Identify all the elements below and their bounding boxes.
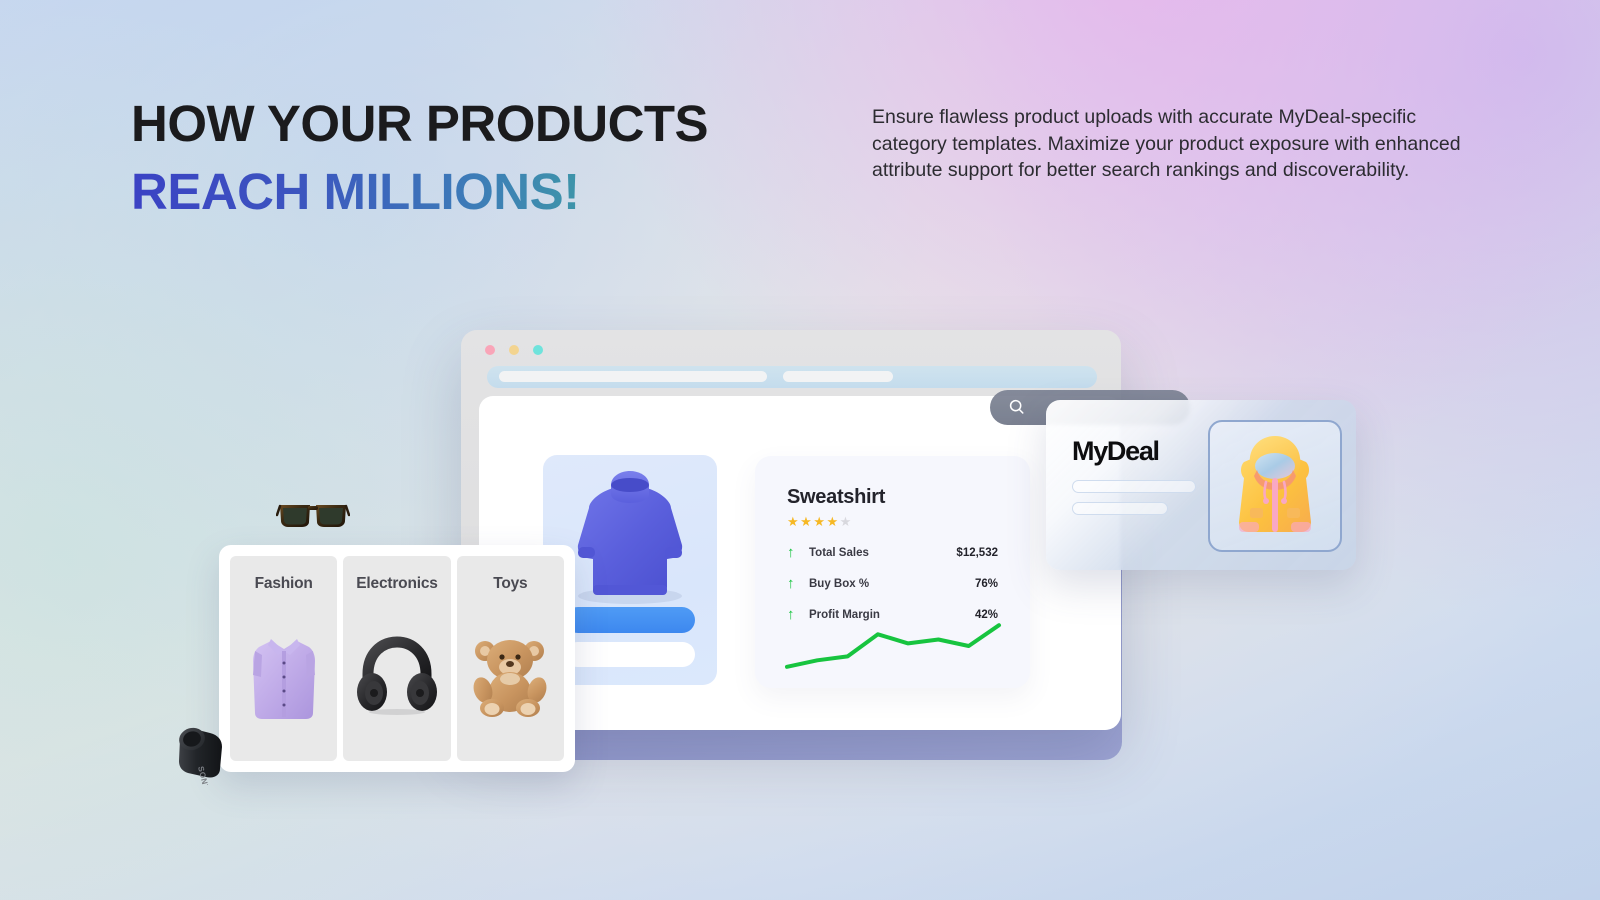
category-card-row: Fashion xyxy=(219,545,575,772)
browser-chrome xyxy=(461,330,1121,396)
star-rating: ★★★★★ xyxy=(787,514,998,530)
primary-action-bar[interactable] xyxy=(565,607,695,633)
placeholder-line xyxy=(1072,502,1168,515)
stat-row: ↑ Buy Box % 76% xyxy=(787,575,998,592)
stat-value: 76% xyxy=(975,578,998,590)
placeholder-line xyxy=(1072,480,1196,493)
shirt-icon xyxy=(230,593,337,761)
sunglasses-icon xyxy=(276,495,350,538)
star-icon: ★ xyxy=(800,514,813,529)
category-card-toys[interactable]: Toys xyxy=(457,556,564,761)
product-name: Sweatshirt xyxy=(787,486,998,509)
category-label: Fashion xyxy=(255,575,313,593)
headphones-icon xyxy=(343,593,450,761)
category-card-electronics[interactable]: Electronics xyxy=(343,556,450,761)
mydeal-brand-card: MyDeal xyxy=(1046,400,1356,570)
address-bar-url-pill xyxy=(499,371,767,382)
category-label: Toys xyxy=(493,575,527,593)
sales-trend-sparkline xyxy=(783,616,1003,676)
arrow-up-icon: ↑ xyxy=(787,575,809,592)
speaker-icon: SONY xyxy=(172,723,228,790)
product-stats-card: Sweatshirt ★★★★★ ↑ Total Sales $12,532 ↑… xyxy=(755,456,1030,688)
window-controls xyxy=(485,345,543,355)
stat-value: $12,532 xyxy=(956,547,998,559)
raincoat-product-frame[interactable] xyxy=(1208,420,1342,552)
category-label: Electronics xyxy=(356,575,437,593)
stat-row: ↑ Total Sales $12,532 xyxy=(787,544,998,561)
address-bar-secondary-pill xyxy=(783,371,893,382)
mydeal-logo: MyDeal xyxy=(1072,436,1159,467)
arrow-up-icon: ↑ xyxy=(787,544,809,561)
teddy-bear-icon xyxy=(457,593,564,761)
category-card-fashion[interactable]: Fashion xyxy=(230,556,337,761)
star-icon: ★ xyxy=(826,514,839,529)
hero-illustration: Sweatshirt ★★★★★ ↑ Total Sales $12,532 ↑… xyxy=(0,0,1600,900)
minimize-icon[interactable] xyxy=(509,345,519,355)
address-bar[interactable] xyxy=(487,366,1097,388)
star-icon: ★ xyxy=(787,514,800,529)
maximize-icon[interactable] xyxy=(533,345,543,355)
mydeal-logo-text: MyDeal xyxy=(1072,436,1159,466)
secondary-action-bar[interactable] xyxy=(565,642,695,667)
star-icon: ★ xyxy=(840,514,853,529)
close-icon[interactable] xyxy=(485,345,495,355)
stat-label: Buy Box % xyxy=(809,578,975,590)
raincoat-image xyxy=(1210,422,1340,550)
stat-label: Total Sales xyxy=(809,547,956,559)
star-icon: ★ xyxy=(813,514,826,529)
search-icon xyxy=(1008,398,1026,416)
